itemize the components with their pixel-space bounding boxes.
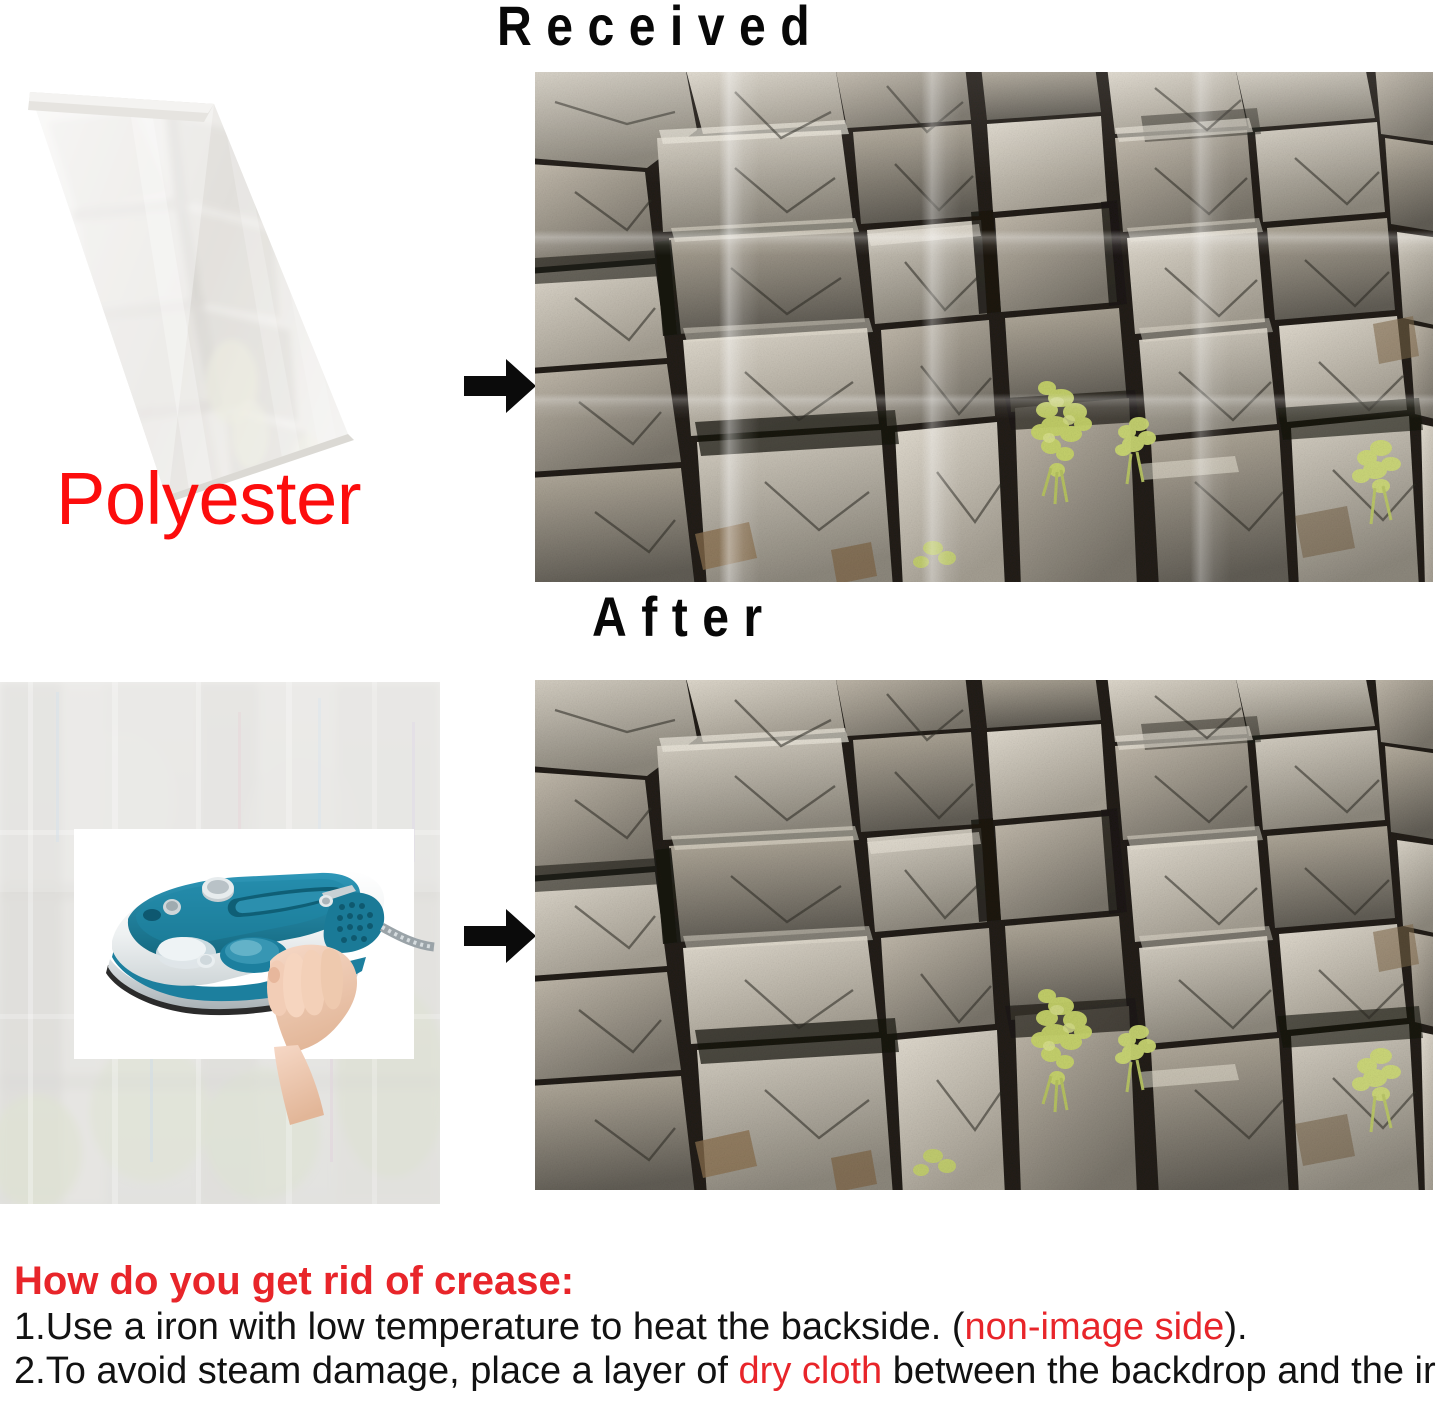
instruction-2-post: between the backdrop and the iron. [882,1350,1436,1392]
instruction-1-pre: 1.Use a iron with low temperature to hea… [14,1306,964,1348]
polyester-label: Polyester [56,462,361,536]
right-arrow-icon-2 [462,905,538,967]
instruction-1-highlight: non-image side [964,1306,1224,1348]
section-title-after: After [592,589,777,645]
received-rock-backdrop-photo [535,72,1433,582]
instruction-1-post: ). [1224,1306,1247,1348]
instructions-heading: How do you get rid of crease: [14,1258,574,1304]
infographic-stage: Received [0,0,1436,1401]
instruction-line-2: 2.To avoid steam damage, place a layer o… [14,1349,1436,1393]
instruction-2-pre: 2.To avoid steam damage, place a layer o… [14,1350,739,1392]
folded-fabric-swatch [18,82,418,502]
instruction-2-highlight: dry cloth [739,1350,883,1392]
right-arrow-icon [462,355,538,417]
section-title-received: Received [497,0,824,54]
steam-iron-photo [94,849,393,1037]
after-rock-backdrop-photo [535,680,1433,1190]
instruction-line-1: 1.Use a iron with low temperature to hea… [14,1305,1248,1349]
